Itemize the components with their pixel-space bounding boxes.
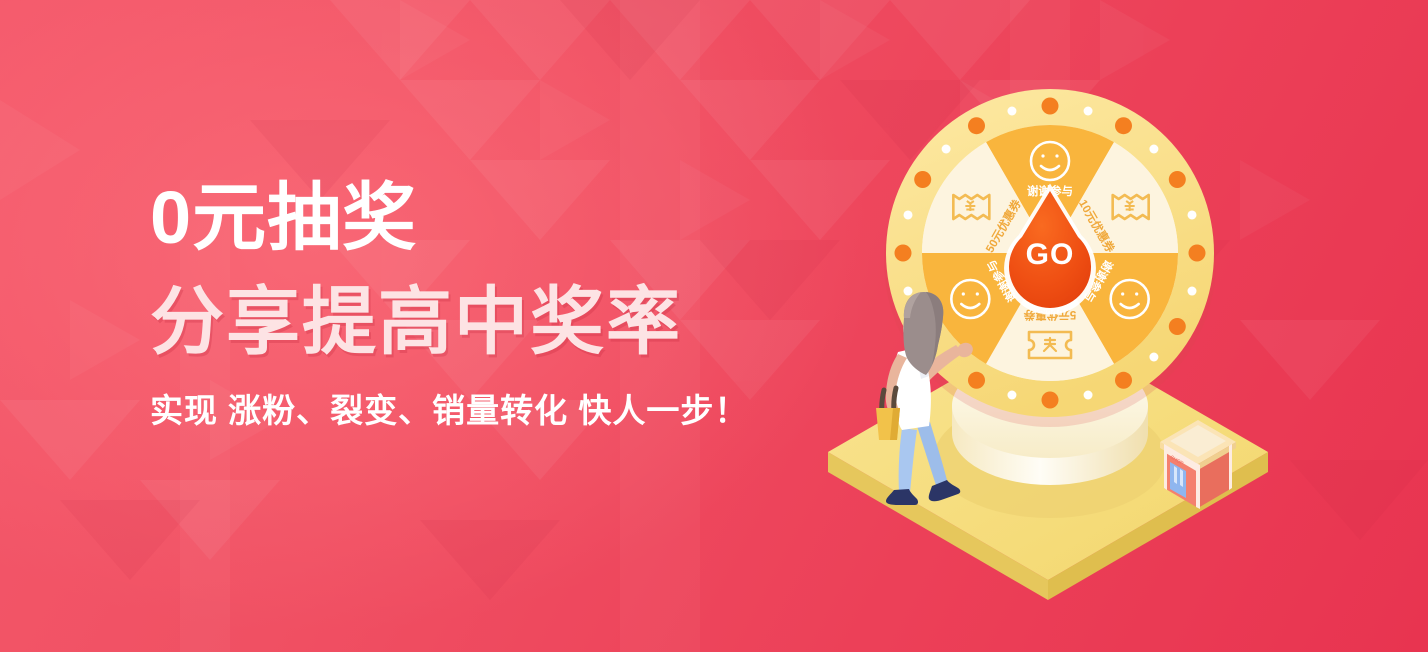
page-title-line2: 分享提高中奖率 bbox=[150, 280, 850, 364]
copy-block: 0元抽奖 分享提高中奖率 实现 涨粉、裂变、销量转化 快人一步！ bbox=[150, 176, 850, 432]
lottery-wheel-illustration: 谢谢参与 10元优惠券 谢谢参与 bbox=[798, 40, 1298, 600]
lottery-promo-banner: 0元抽奖 分享提高中奖率 实现 涨粉、裂变、销量转化 快人一步！ bbox=[0, 0, 1428, 652]
page-title-line1: 0元抽奖 bbox=[150, 176, 850, 260]
page-subtitle: 实现 涨粉、裂变、销量转化 快人一步！ bbox=[150, 390, 850, 432]
go-button-label: GO bbox=[1026, 238, 1075, 271]
prize-wheel[interactable]: 谢谢参与 10元优惠券 谢谢参与 bbox=[884, 89, 1216, 427]
